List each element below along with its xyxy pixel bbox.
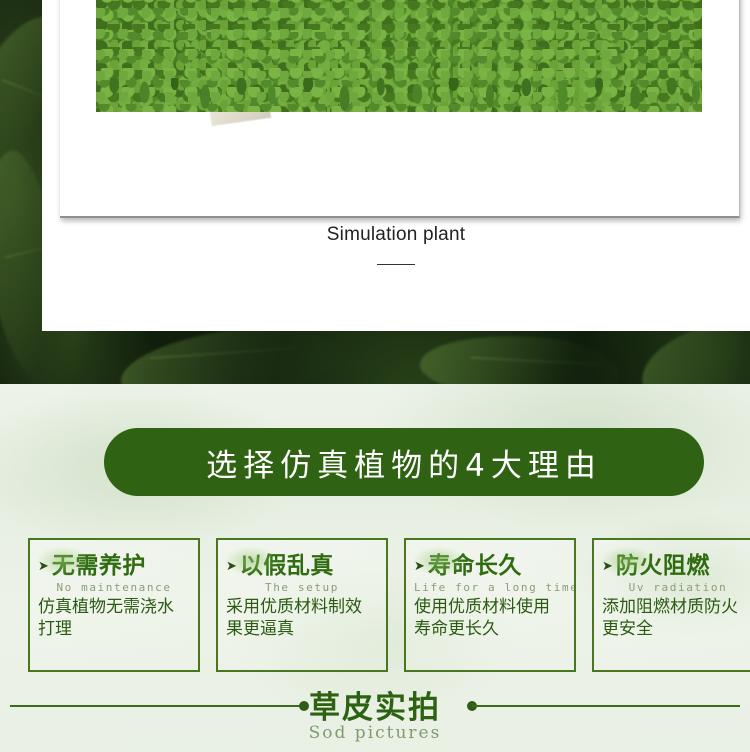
hero-section: Simulation plant (0, 0, 750, 384)
feature-card-header: ➤ 无需养护 (38, 546, 190, 580)
feature-card-subtitle: Uv radiation (602, 581, 750, 594)
sod-pictures-heading: 草皮实拍 Sod pictures (0, 682, 750, 752)
feature-card-body: 使用优质材料使用寿命更长久 (414, 597, 566, 641)
feature-card-title: 以假乱真 (240, 546, 334, 580)
feature-card-header: ➤ 以假乱真 (226, 546, 378, 580)
feature-cards-row: ➤ 无需养护 No maintenance 仿真植物无需浇水打理 ➤ 以假乱真 … (28, 538, 750, 672)
reasons-banner-title: 选择仿真植物的4大理由 (206, 440, 602, 485)
arrow-icon: ➤ (602, 559, 613, 572)
arrow-icon: ➤ (38, 559, 49, 572)
grass-fringe-decoration (96, 78, 702, 114)
feature-card: ➤ 防火阻燃 Uv radiation 添加阻燃材质防火更安全 (592, 538, 750, 672)
caption-title: Simulation plant (42, 224, 750, 246)
feature-card: ➤ 无需养护 No maintenance 仿真植物无需浇水打理 (28, 538, 200, 672)
feature-card-title: 寿命长久 (428, 546, 522, 580)
feature-card-body: 仿真植物无需浇水打理 (38, 597, 190, 641)
feature-card-header: ➤ 寿命长久 (414, 546, 566, 580)
feature-card-title: 防火阻燃 (616, 546, 710, 580)
product-caption: Simulation plant (42, 224, 750, 265)
feature-card-subtitle: The setup (226, 581, 378, 594)
reasons-banner: 选择仿真植物的4大理由 (104, 428, 704, 496)
feature-card: ➤ 寿命长久 Life for a long time 使用优质材料使用寿命更长… (404, 538, 576, 672)
feature-card-body: 采用优质材料制效果更逼真 (226, 597, 378, 641)
feature-card-subtitle: Life for a long time (414, 581, 566, 594)
feature-card-body: 添加阻燃材质防火更安全 (602, 597, 750, 641)
reasons-section: 选择仿真植物的4大理由 ➤ 无需养护 No maintenance 仿真植物无需… (0, 384, 750, 752)
sod-subtitle: Sod pictures (0, 723, 750, 743)
caption-divider (377, 264, 415, 265)
product-detail-page: Simulation plant 选择仿真植物的4大理由 ➤ 无需养护 No m… (0, 0, 750, 752)
sod-divider-right (472, 705, 740, 707)
product-white-panel: Simulation plant (42, 0, 750, 331)
feature-card: ➤ 以假乱真 The setup 采用优质材料制效果更逼真 (216, 538, 388, 672)
feature-card-title: 无需养护 (52, 546, 146, 580)
leaf-decoration (418, 327, 623, 384)
product-photo-frame (60, 0, 740, 218)
feature-card-header: ➤ 防火阻燃 (602, 546, 750, 580)
feature-card-subtitle: No maintenance (38, 581, 190, 594)
arrow-icon: ➤ (414, 559, 425, 572)
arrow-icon: ➤ (226, 559, 237, 572)
